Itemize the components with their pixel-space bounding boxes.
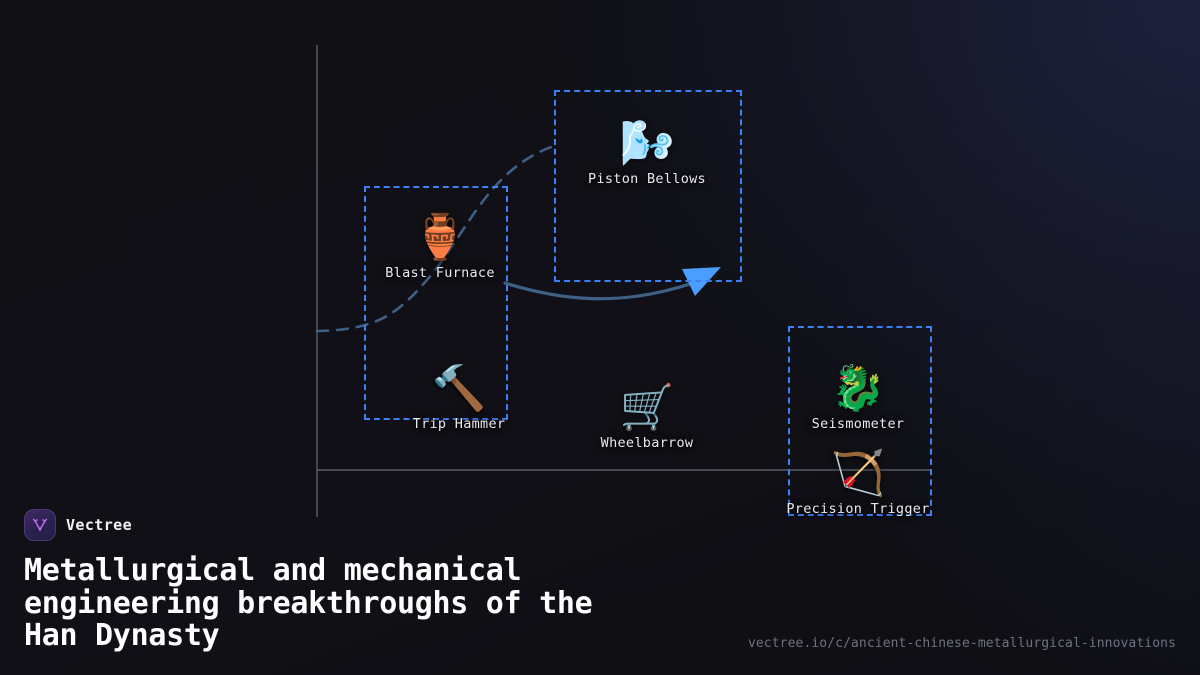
edge-solid-to-bellows (505, 282, 696, 299)
hammer-icon: 🔨 (432, 367, 487, 411)
shopping-cart-icon: 🛒 (620, 386, 675, 430)
node-label: Seismometer (812, 416, 905, 432)
source-url: vectree.io/c/ancient-chinese-metallurgic… (748, 636, 1176, 651)
page-title: Metallurgical and mechanical engineering… (24, 555, 764, 653)
node-wheelbarrow[interactable]: 🛒Wheelbarrow (547, 386, 747, 451)
node-trip-hammer[interactable]: 🔨Trip Hammer (359, 367, 559, 432)
node-label: Blast Furnace (385, 265, 495, 281)
amphora-icon: 🏺 (413, 216, 468, 260)
node-precision-trigger[interactable]: 🏹Precision Trigger (758, 452, 958, 517)
brand: Vectree (24, 509, 1176, 541)
footer: Vectree Metallurgical and mechanical eng… (0, 509, 1200, 675)
vectree-logo-icon (24, 509, 56, 541)
node-blast-furnace[interactable]: 🏺Blast Furnace (340, 216, 540, 281)
node-label: Wheelbarrow (601, 435, 694, 451)
node-label: Trip Hammer (413, 416, 506, 432)
dragon-icon: 🐉 (831, 367, 886, 411)
brand-name: Vectree (66, 516, 132, 534)
wind-face-icon: 🌬️ (620, 122, 675, 166)
node-label: Piston Bellows (588, 171, 706, 187)
node-piston-bellows[interactable]: 🌬️Piston Bellows (547, 122, 747, 187)
node-seismometer[interactable]: 🐉Seismometer (758, 367, 958, 432)
bow-and-arrow-icon: 🏹 (831, 452, 886, 496)
